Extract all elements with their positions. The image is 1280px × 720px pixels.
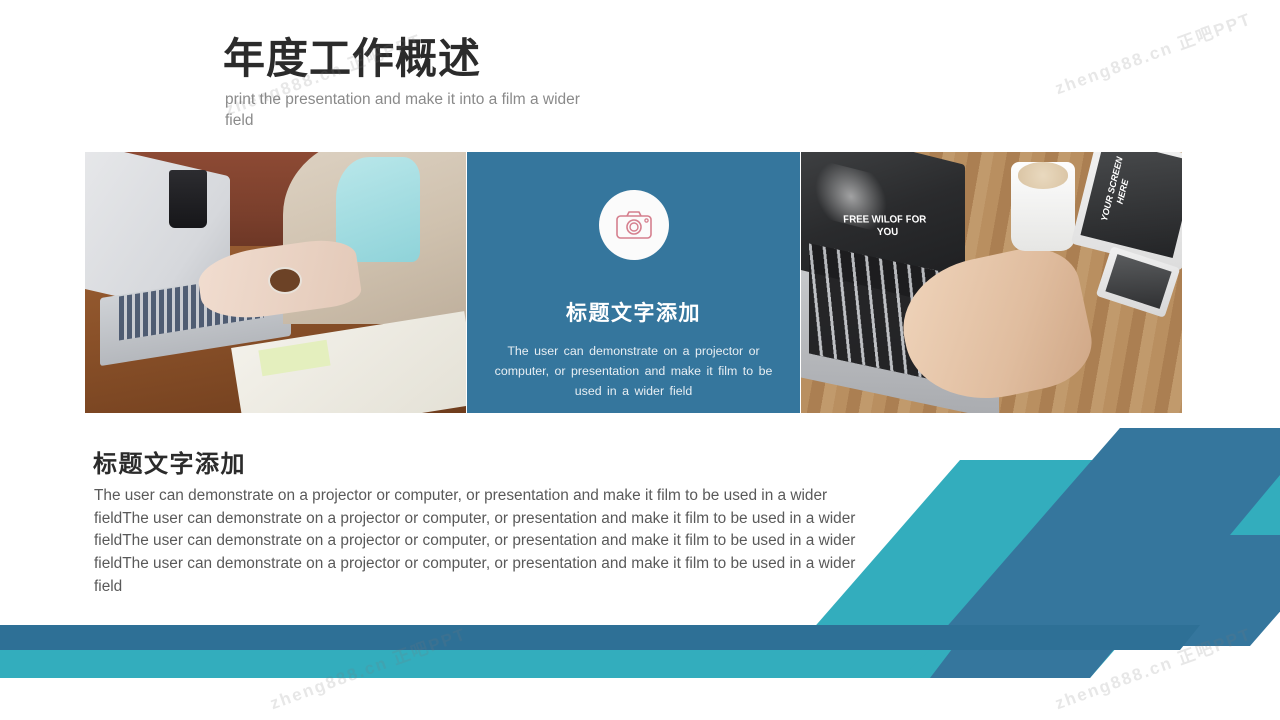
panel-title: 标题文字添加 [566, 297, 701, 327]
slide-header: 年度工作概述 print the presentation and make i… [223, 36, 923, 132]
photo-left [85, 152, 466, 413]
decorative-shapes [0, 420, 1280, 720]
camera-icon [615, 209, 653, 241]
bottom-bar-blue-left [0, 625, 820, 650]
page-subtitle: print the presentation and make it into … [225, 90, 597, 132]
laptop-screen-text: FREE WILOF FOR YOU [836, 214, 942, 257]
photo-right: FREE WILOF FOR YOU YOUR SCREEN HERE [801, 152, 1182, 413]
coffee-cup [169, 170, 207, 227]
panel-body-text: The user can demonstrate on a projector … [493, 341, 775, 401]
icon-circle-badge [599, 190, 669, 260]
center-feature-panel: 标题文字添加 The user can demonstrate on a pro… [467, 152, 800, 413]
page-title: 年度工作概述 [223, 36, 923, 82]
watermark: zheng888.cn 正吧PPT [1051, 5, 1255, 100]
slide-canvas: 年度工作概述 print the presentation and make i… [0, 0, 1280, 720]
bottom-bar-teal [0, 650, 930, 678]
coffee-foam [1018, 162, 1068, 188]
